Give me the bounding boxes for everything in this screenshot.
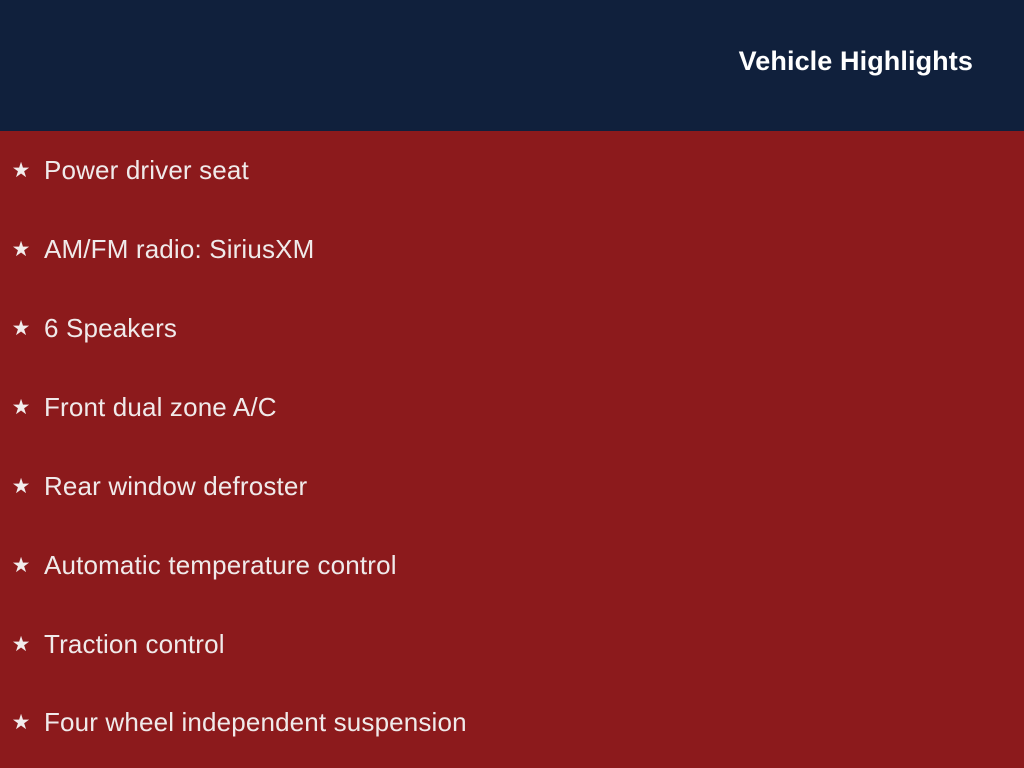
highlight-item-label: AM/FM radio: SiriusXM — [44, 230, 314, 268]
star-bullet-icon: ★ — [8, 151, 34, 189]
star-bullet-icon: ★ — [8, 230, 34, 268]
slide-canvas: Vehicle Highlights ★Power driver seat★AM… — [0, 0, 1024, 768]
highlight-item-label: Four wheel independent suspension — [44, 703, 467, 741]
star-bullet-icon: ★ — [8, 546, 34, 584]
list-item: ★6 Speakers — [0, 309, 1024, 347]
star-bullet-icon: ★ — [8, 625, 34, 663]
highlight-item-label: Traction control — [44, 625, 225, 663]
highlight-item-label: Front dual zone A/C — [44, 388, 277, 426]
list-item: ★Power driver seat — [0, 151, 1024, 189]
highlight-item-label: Automatic temperature control — [44, 546, 397, 584]
list-item: ★Four wheel independent suspension — [0, 703, 1024, 741]
star-bullet-icon: ★ — [8, 467, 34, 505]
list-item: ★AM/FM radio: SiriusXM — [0, 230, 1024, 268]
page-title: Vehicle Highlights — [739, 47, 973, 77]
slide-header-band: Vehicle Highlights — [0, 0, 1024, 131]
vehicle-highlights-list: ★Power driver seat★AM/FM radio: SiriusXM… — [0, 131, 1024, 768]
list-item: ★Traction control — [0, 625, 1024, 663]
star-bullet-icon: ★ — [8, 388, 34, 426]
highlight-item-label: Power driver seat — [44, 151, 249, 189]
list-item: ★Automatic temperature control — [0, 546, 1024, 584]
highlight-item-label: Rear window defroster — [44, 467, 307, 505]
star-bullet-icon: ★ — [8, 309, 34, 347]
list-item: ★Rear window defroster — [0, 467, 1024, 505]
highlight-item-label: 6 Speakers — [44, 309, 177, 347]
star-bullet-icon: ★ — [8, 703, 34, 741]
list-item: ★Front dual zone A/C — [0, 388, 1024, 426]
